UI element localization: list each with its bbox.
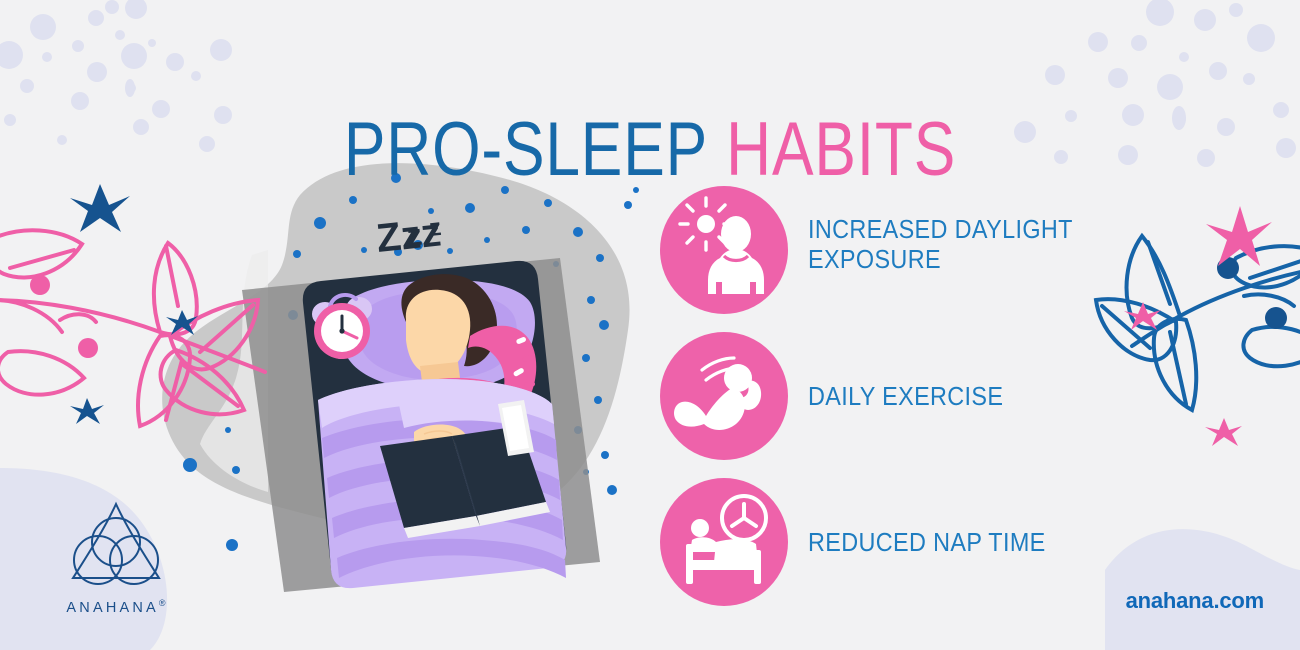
brand-trademark: ® [159,598,166,608]
habit-bullet-2 [660,332,788,460]
brand-name-text: ANAHANA [66,600,159,616]
habit-item-nap[interactable]: REDUCED NAP TIME [660,478,1130,624]
habit-label-2: DAILY EXERCISE [808,381,1078,411]
habit-item-exercise[interactable]: DAILY EXERCISE [660,332,1130,478]
sit-up-exercise-icon [660,332,788,460]
habit-item-daylight[interactable]: INCREASED DAYLIGHT EXPOSURE [660,186,1130,332]
website-url[interactable]: anahana.com [1126,588,1264,614]
habits-list: INCREASED DAYLIGHT EXPOSURE D [660,186,1130,624]
sun-person-icon [660,186,788,314]
habit-label-3: REDUCED NAP TIME [808,527,1078,557]
left-pink-branch [0,230,265,426]
triquetra-logo-icon [61,496,171,592]
habit-label-1: INCREASED DAYLIGHT EXPOSURE [808,214,1078,274]
bed-clock-icon [660,478,788,606]
habit-bullet-1 [660,186,788,314]
title-part-two: HABITS [726,107,956,192]
habit-bullet-3 [660,478,788,606]
brand-logo[interactable]: ANAHANA® [46,496,186,616]
title-part-one: PRO-SLEEP [344,107,708,192]
infographic-canvas: Zzz z z [0,0,1300,650]
page-title: PRO-SLEEP HABITS [117,109,1183,191]
brand-name: ANAHANA® [46,598,186,616]
